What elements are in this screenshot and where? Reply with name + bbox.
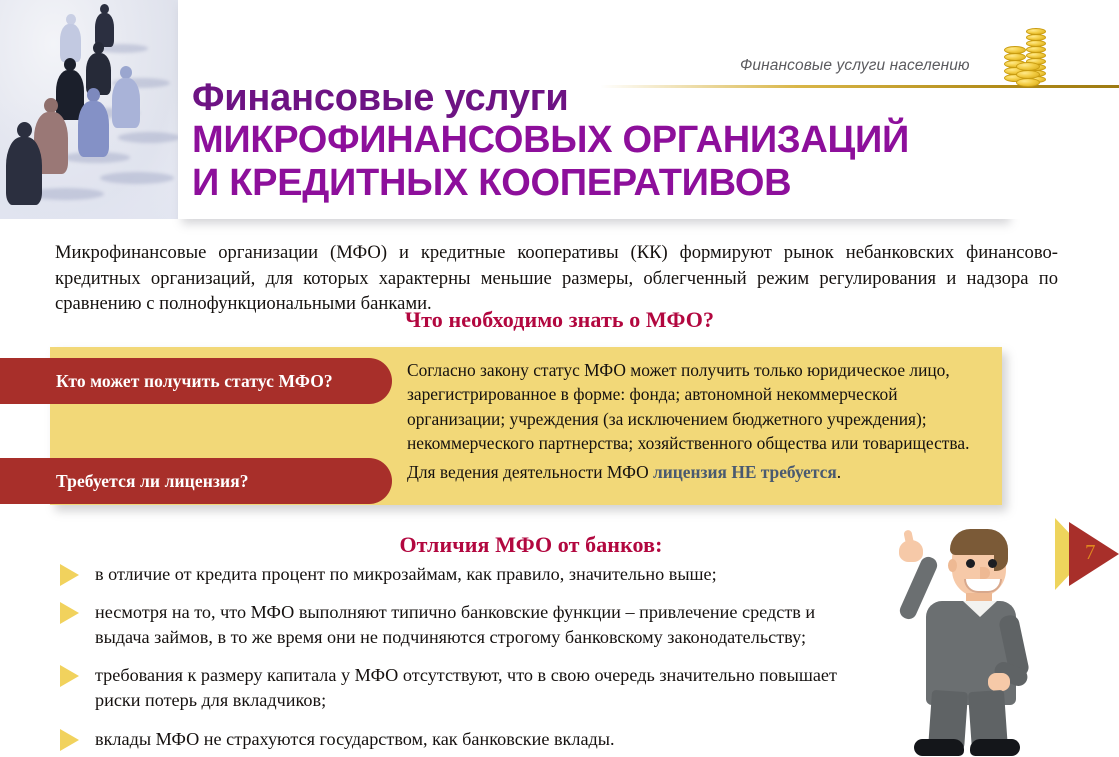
list-item-label: в отличие от кредита процент по микрозай… bbox=[95, 564, 717, 584]
header-photo-business-people bbox=[0, 0, 178, 219]
qa-answer-2-highlight: лицензия НЕ требуется bbox=[653, 462, 837, 482]
page-title: Финансовые услуги МИКРОФИНАНСОВЫХ ОРГАНИ… bbox=[192, 78, 992, 206]
page-number: 7 bbox=[1085, 540, 1096, 565]
list-item-label: вклады МФО не страхуются государством, к… bbox=[95, 729, 615, 749]
title-line-2: МИКРОФИНАНСОВЫХ ОРГАНИЗАЦИЙ bbox=[192, 119, 992, 162]
gold-coins-icon bbox=[996, 28, 1054, 90]
list-item: в отличие от кредита процент по микрозай… bbox=[55, 562, 855, 587]
list-item: вклады МФО не страхуются государством, к… bbox=[55, 727, 855, 752]
title-line-3: И КРЕДИТНЫХ КООПЕРАТИВОВ bbox=[192, 162, 992, 205]
qa-question-label-2: Требуется ли лицензия? bbox=[0, 471, 249, 492]
arrow-right-icon bbox=[60, 602, 79, 624]
list-item: несмотря на то, что МФО выполняют типичн… bbox=[55, 600, 855, 650]
qa-question-pill-2[interactable]: Требуется ли лицензия? bbox=[0, 458, 392, 504]
qa-question-pill-1[interactable]: Кто может получить статус МФО? bbox=[0, 358, 392, 404]
list-item: требования к размеру капитала у МФО отсу… bbox=[55, 663, 855, 713]
arrow-right-icon bbox=[60, 729, 79, 751]
arrow-right-icon bbox=[60, 665, 79, 687]
qa-answer-2-suffix: . bbox=[837, 462, 841, 482]
businessman-illustration bbox=[866, 515, 1046, 757]
qa-answer-2: Для ведения деятельности МФО лицензия НЕ… bbox=[407, 460, 993, 484]
intro-paragraph: Микрофинансовые организации (МФО) и кред… bbox=[55, 240, 1058, 317]
header-tagline: Финансовые услуги населению bbox=[740, 57, 970, 75]
differences-list: в отличие от кредита процент по микрозай… bbox=[55, 562, 855, 757]
title-line-1: Финансовые услуги bbox=[192, 78, 992, 119]
arrow-right-icon bbox=[60, 564, 79, 586]
qa-question-label-1: Кто может получить статус МФО? bbox=[0, 371, 333, 392]
page-number-badge: 7 bbox=[1055, 518, 1119, 590]
section-heading-qa: Что необходимо знать о МФО? bbox=[0, 307, 1119, 333]
qa-answer-1: Согласно закону статус МФО может получит… bbox=[407, 358, 993, 455]
list-item-label: требования к размеру капитала у МФО отсу… bbox=[95, 665, 837, 710]
qa-answer-2-prefix: Для ведения деятельности МФО bbox=[407, 462, 653, 482]
list-item-label: несмотря на то, что МФО выполняют типичн… bbox=[95, 602, 815, 647]
slide-page: Финансовые услуги населению Финансовые у… bbox=[0, 0, 1119, 757]
